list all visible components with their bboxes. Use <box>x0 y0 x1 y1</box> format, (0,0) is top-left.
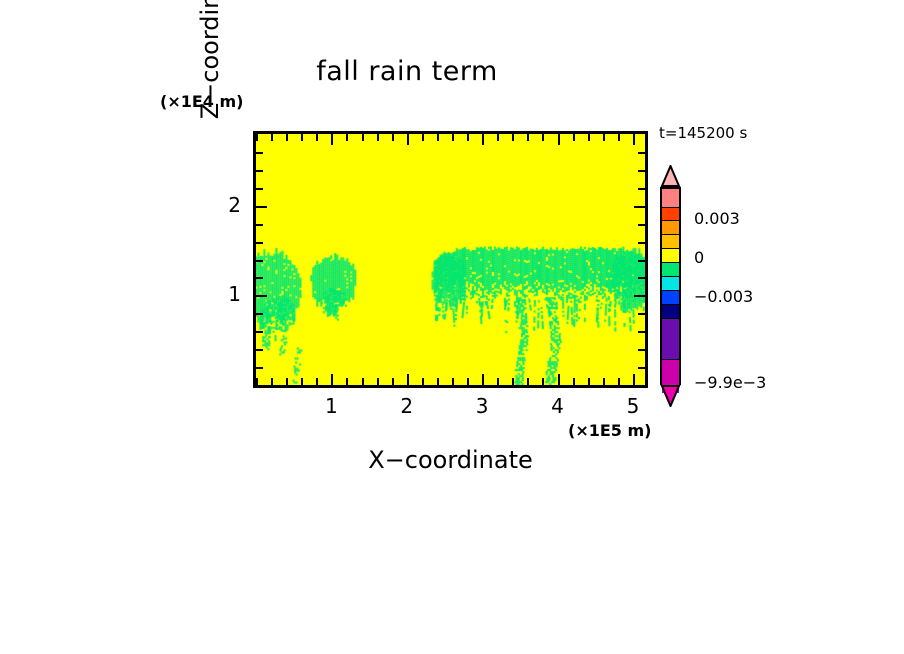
tick-right-minor <box>638 260 645 262</box>
colorbar-band <box>662 319 679 360</box>
tick-left-minor <box>256 277 263 279</box>
tick-top-minor <box>346 134 348 141</box>
tick-bottom-major <box>482 374 484 385</box>
tick-bottom-minor <box>392 378 394 385</box>
x-tick-label: 5 <box>613 394 653 418</box>
tick-bottom-minor <box>527 378 529 385</box>
tick-left-minor <box>256 224 263 226</box>
tick-left-minor <box>256 170 263 172</box>
tick-top-minor <box>392 134 394 141</box>
tick-left-minor <box>256 313 263 315</box>
tick-bottom-minor <box>573 378 575 385</box>
y-tick-label: 1 <box>213 282 241 306</box>
tick-top-minor <box>512 134 514 141</box>
x-tick-label: 4 <box>538 394 578 418</box>
colorbar-label: −9.9e−3 <box>694 373 766 392</box>
tick-top-major <box>407 134 409 145</box>
tick-bottom-minor <box>542 378 544 385</box>
tick-top-minor <box>256 134 258 141</box>
y-tick-label: 2 <box>213 193 241 217</box>
x-tick-label: 3 <box>462 394 502 418</box>
tick-bottom-minor <box>603 378 605 385</box>
tick-left-minor <box>256 331 263 333</box>
tick-bottom-minor <box>301 378 303 385</box>
tick-bottom-minor <box>316 378 318 385</box>
tick-bottom-major <box>331 374 333 385</box>
tick-left-minor <box>256 385 263 387</box>
tick-left-minor <box>256 260 263 262</box>
tick-top-minor <box>588 134 590 141</box>
colorbar-label: 0 <box>694 248 704 267</box>
tick-right-minor <box>638 349 645 351</box>
tick-bottom-minor <box>497 378 499 385</box>
x-tick-label: 2 <box>387 394 427 418</box>
tick-left-major <box>256 295 267 297</box>
tick-bottom-minor <box>467 378 469 385</box>
tick-top-major <box>633 134 635 145</box>
tick-top-minor <box>437 134 439 141</box>
colorbar-band <box>662 189 679 208</box>
tick-top-minor <box>497 134 499 141</box>
y-axis-title: Z−coordinate <box>196 0 230 165</box>
tick-bottom-minor <box>512 378 514 385</box>
tick-left-minor <box>256 367 263 369</box>
tick-right-major <box>634 206 645 208</box>
tick-right-minor <box>638 313 645 315</box>
tick-top-minor <box>362 134 364 141</box>
colorbar-band <box>662 208 679 222</box>
tick-top-minor <box>467 134 469 141</box>
colorbar-band <box>662 291 679 305</box>
tick-top-minor <box>603 134 605 141</box>
tick-left-major <box>256 206 267 208</box>
tick-top-minor <box>573 134 575 141</box>
colorbar-arrow-top-icon <box>660 165 681 187</box>
tick-bottom-minor <box>618 378 620 385</box>
tick-bottom-minor <box>437 378 439 385</box>
tick-top-minor <box>422 134 424 141</box>
colorbar-band <box>662 263 679 277</box>
tick-right-minor <box>638 367 645 369</box>
x-tick-label: 1 <box>311 394 351 418</box>
x-axis-title: X−coordinate <box>253 446 648 474</box>
tick-bottom-minor <box>286 378 288 385</box>
tick-bottom-major <box>558 374 560 385</box>
tick-bottom-minor <box>452 378 454 385</box>
page-title: fall rain term <box>0 56 859 87</box>
tick-bottom-major <box>633 374 635 385</box>
x-axis-unit-label: (×1E5 m) <box>568 421 651 440</box>
tick-bottom-minor <box>271 378 273 385</box>
figure-root: fall rain term (×1E4 m) t=145200 s 12345… <box>0 0 904 654</box>
colorbar-band <box>662 235 679 249</box>
tick-top-minor <box>377 134 379 141</box>
colorbar-band <box>662 249 679 263</box>
tick-top-minor <box>316 134 318 141</box>
tick-right-minor <box>638 331 645 333</box>
tick-right-minor <box>638 242 645 244</box>
tick-top-major <box>558 134 560 145</box>
colorbar-label: 0.003 <box>694 209 740 228</box>
time-annotation: t=145200 s <box>659 124 747 142</box>
tick-right-minor <box>638 188 645 190</box>
plot-area <box>253 131 648 388</box>
tick-left-minor <box>256 242 263 244</box>
tick-right-minor <box>638 152 645 154</box>
tick-right-minor <box>638 224 645 226</box>
tick-bottom-minor <box>346 378 348 385</box>
tick-left-minor <box>256 349 263 351</box>
tick-bottom-major <box>407 374 409 385</box>
tick-bottom-minor <box>362 378 364 385</box>
colorbar <box>660 187 681 385</box>
colorbar-band <box>662 277 679 291</box>
colorbar-band <box>662 221 679 235</box>
tick-right-minor <box>638 277 645 279</box>
colorbar-arrow-bottom-icon <box>660 385 681 407</box>
tick-right-minor <box>638 385 645 387</box>
tick-left-minor <box>256 152 263 154</box>
tick-top-major <box>331 134 333 145</box>
tick-top-minor <box>301 134 303 141</box>
tick-bottom-minor <box>422 378 424 385</box>
tick-top-major <box>482 134 484 145</box>
tick-top-minor <box>527 134 529 141</box>
tick-top-minor <box>618 134 620 141</box>
tick-top-minor <box>542 134 544 141</box>
tick-top-minor <box>452 134 454 141</box>
heatmap-canvas <box>256 134 645 385</box>
tick-top-minor <box>271 134 273 141</box>
tick-bottom-minor <box>256 378 258 385</box>
tick-right-minor <box>638 170 645 172</box>
tick-top-minor <box>286 134 288 141</box>
colorbar-band <box>662 305 679 319</box>
tick-left-minor <box>256 188 263 190</box>
tick-bottom-minor <box>588 378 590 385</box>
tick-right-major <box>634 295 645 297</box>
tick-bottom-minor <box>377 378 379 385</box>
colorbar-label: −0.003 <box>694 287 753 306</box>
